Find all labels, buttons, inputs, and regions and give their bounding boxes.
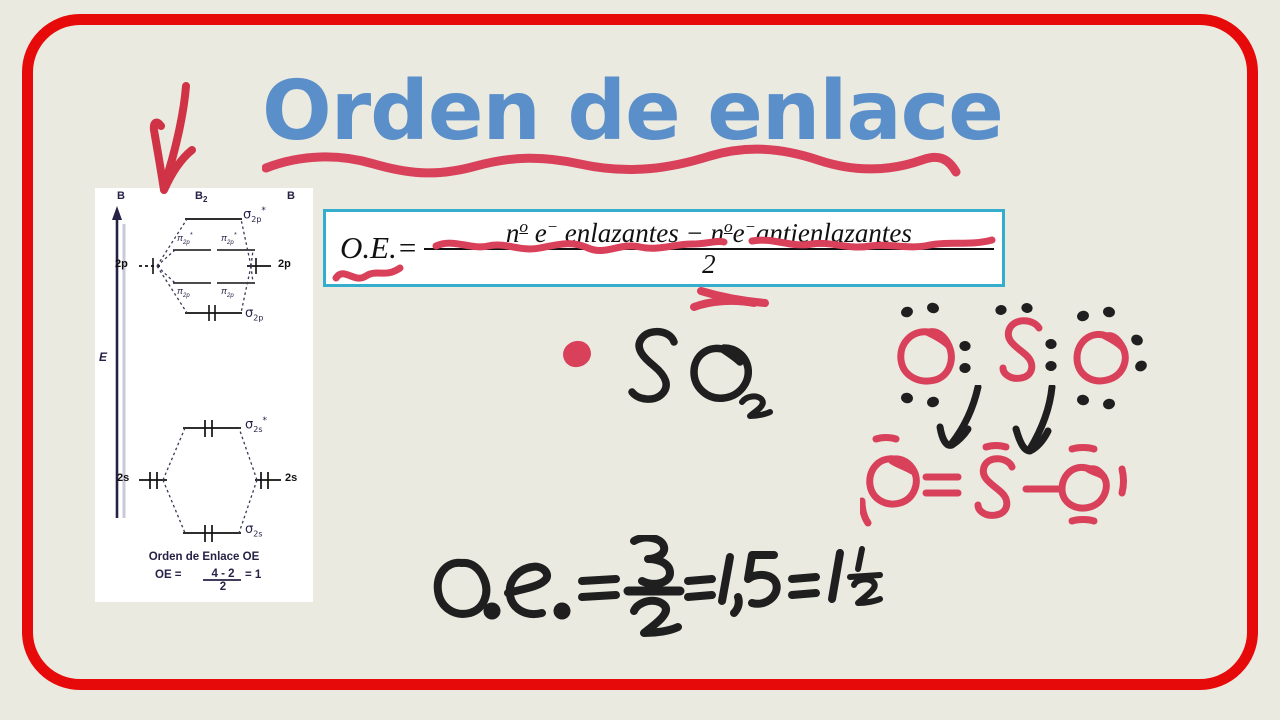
pi-sub: 2p xyxy=(183,240,190,246)
star-glyph: * xyxy=(190,232,193,239)
slide-canvas: Orden de enlace xyxy=(0,0,1280,720)
sigma-sub: 2s xyxy=(253,530,262,539)
bond-order-result-mixed: 1 xyxy=(0,0,1,1)
mo-caption-title: Orden de Enlace OE xyxy=(95,551,313,563)
mo-caption-result: = 1 xyxy=(245,569,261,581)
bond-order-result-denominator: 2 xyxy=(0,0,1,1)
sigma-sub: 2s xyxy=(253,425,262,434)
pi-sub: 2p xyxy=(227,240,234,246)
star-glyph: * xyxy=(261,206,266,216)
mo-caption-numerator: 4 - 2 xyxy=(203,568,243,580)
mo-diagram-svg xyxy=(95,188,313,602)
bullet-point-marker xyxy=(559,337,595,372)
sigma-glyph: σ xyxy=(245,306,253,321)
mo-level-label-pi-2p-right: π2p xyxy=(221,286,234,299)
red-dash-above-so2 xyxy=(690,293,760,315)
mo-caption-denominator: 2 xyxy=(203,581,243,593)
pi-sub: 2p xyxy=(183,293,190,299)
black-curved-arrows xyxy=(930,385,1080,495)
lewis-structure-text: O : S : O with lone-pair dots xyxy=(0,0,1,1)
mo-level-label-sigma-2p-star: σ2p* xyxy=(243,206,266,224)
mo-ao-label-2s-right: 2s xyxy=(285,472,297,484)
mo-level-label-pi-2p-left: π2p xyxy=(177,286,190,299)
mo-label-energy-axis: E xyxy=(99,350,107,364)
star-glyph: * xyxy=(234,232,237,239)
mo-diagram-panel: B B2 B E σ2p* π2p* π2p* π2p π2p σ2p 2p 2… xyxy=(95,188,313,602)
sigma-sub: 2p xyxy=(251,215,261,224)
title-underline-squiggle xyxy=(262,138,962,180)
structural-formula-text: O = S − O xyxy=(0,0,1,1)
sigma-glyph: σ xyxy=(245,522,253,537)
mo-level-label-sigma-2s: σ2s xyxy=(245,522,263,539)
mo-ao-label-2p-right: 2p xyxy=(278,258,291,270)
oe-label-squiggle xyxy=(330,258,410,290)
numerator-highlight-squiggle xyxy=(430,232,1000,258)
mo-level-label-pi-2p-star-left: π2p* xyxy=(177,232,192,246)
sigma-sub: 2p xyxy=(253,314,263,323)
red-pointer-arrow-icon xyxy=(128,78,218,218)
mo-ao-label-2p-left: 2p xyxy=(115,258,128,270)
star-glyph: * xyxy=(263,416,268,426)
handwritten-so2-label xyxy=(620,320,800,420)
handwritten-bond-order-result xyxy=(430,535,910,655)
mo-level-label-pi-2p-star-right: π2p* xyxy=(221,232,236,246)
pi-sub: 2p xyxy=(227,293,234,299)
bond-order-result-lhs: O.e.= xyxy=(0,0,1,1)
sigma-glyph: σ xyxy=(245,417,253,432)
mo-label-atom-left: B xyxy=(117,190,125,202)
mo-level-label-sigma-2p: σ2p xyxy=(245,306,263,323)
bond-order-result-numerator: 3 xyxy=(0,0,1,1)
mo-level-label-sigma-2s-star: σ2s* xyxy=(245,416,267,434)
mo-caption-lhs: OE = xyxy=(155,569,182,581)
so2-text-value: SO₂ xyxy=(0,0,1,1)
bond-order-result-decimal: 1,5 xyxy=(0,0,1,1)
mo-ao-label-2s-left: 2s xyxy=(117,472,129,484)
mo-label-atom-right: B xyxy=(287,190,295,202)
sigma-glyph: σ xyxy=(243,207,251,222)
